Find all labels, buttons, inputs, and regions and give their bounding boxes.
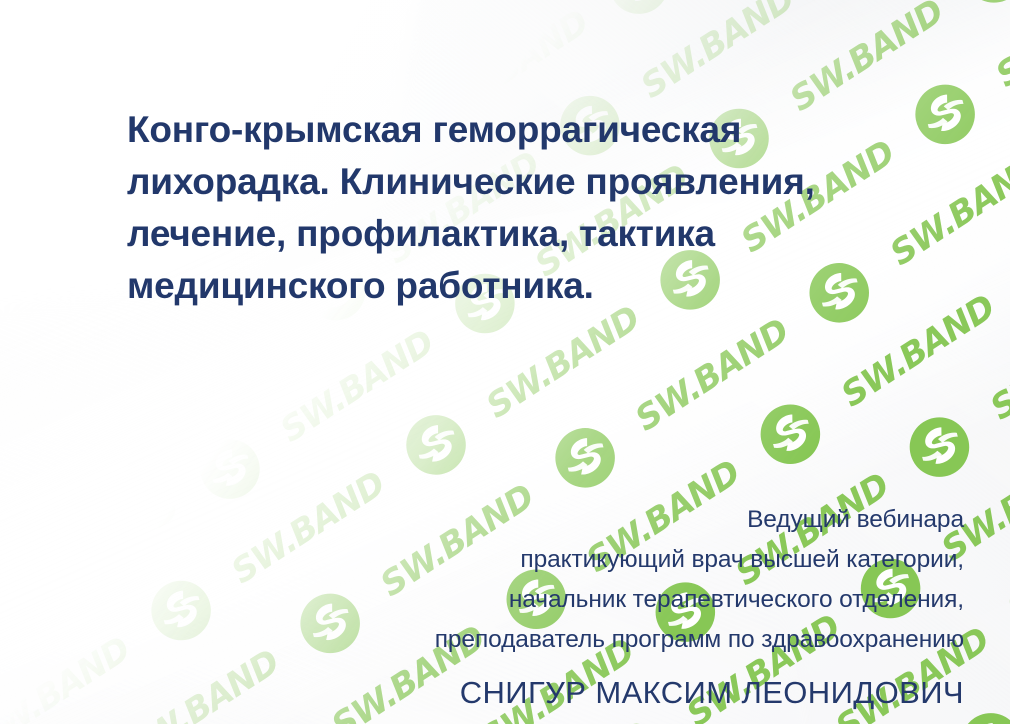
sw-band-circle-logo-icon xyxy=(596,0,682,27)
sw-band-circle-logo-icon xyxy=(38,413,124,499)
watermark-text: SW.BAND xyxy=(273,322,441,450)
sw-band-circle-logo-icon xyxy=(997,558,1010,644)
sw-band-circle-logo-icon xyxy=(542,415,628,501)
title-line: медицинского работника. xyxy=(127,260,887,312)
presenter-role-line: преподаватель программ по здравоохранени… xyxy=(204,620,964,660)
sw-band-circle-logo-icon xyxy=(241,0,327,38)
watermark-text: SW.BAND xyxy=(0,475,37,603)
sw-band-circle-logo-icon xyxy=(447,0,533,14)
sw-band-circle-logo-icon xyxy=(1003,226,1010,312)
watermark-text: SW.BAND xyxy=(628,311,796,439)
watermark-text: SW.BAND xyxy=(783,0,951,120)
sw-band-circle-logo-icon xyxy=(0,259,23,345)
sw-band-circle-logo-icon xyxy=(902,71,988,157)
watermark-text: SW.BAND xyxy=(0,629,137,724)
sw-band-circle-logo-icon xyxy=(92,0,178,25)
watermark-text: SW.BAND xyxy=(0,334,86,462)
sw-band-circle-logo-icon xyxy=(951,0,1010,16)
presenter-credentials: Ведущий вебинара практикующий врач высше… xyxy=(204,500,964,717)
title-line: лихорадка. Клинические проявления, xyxy=(127,156,887,208)
watermark-text: SW.BAND xyxy=(634,0,802,107)
title-line: лечение, профилактика, тактика xyxy=(127,208,887,260)
watermark-text: SW.BAND xyxy=(989,0,1010,96)
presenter-role-line: Ведущий вебинара xyxy=(204,500,964,540)
title-line: Конго-крымская геморрагическая xyxy=(127,104,887,156)
presenter-role-line: практикующий врач высшей категории, xyxy=(204,540,964,580)
watermark-text: SW.BAND xyxy=(883,146,1010,274)
watermark-text: SW.BAND xyxy=(18,488,186,616)
watermark-text: SW.BAND xyxy=(479,298,647,426)
watermark-text: SW.BAND xyxy=(983,300,1010,428)
presenter-name: СНИГУР МАКСИМ ЛЕОНИДОВИЧ xyxy=(204,669,964,717)
slide-title: Конго-крымская геморрагическая лихорадка… xyxy=(127,104,887,312)
watermark-text: SW.BAND xyxy=(279,0,447,118)
sw-band-circle-logo-icon xyxy=(802,0,888,3)
sw-band-circle-logo-icon xyxy=(393,402,479,488)
sw-band-circle-logo-icon xyxy=(0,592,18,678)
watermark-text: SW.BAND xyxy=(124,309,292,437)
sw-band-circle-logo-icon xyxy=(0,118,72,204)
sw-band-circle-logo-icon xyxy=(748,391,834,477)
presenter-role-line: начальник терапевтического отделения, xyxy=(204,580,964,620)
sw-band-circle-logo-icon xyxy=(897,404,983,490)
watermark-text: SW.BAND xyxy=(0,1,91,129)
presentation-slide: SW.BANDSW.BANDSW.BANDSW.BANDSW.BANDSW.BA… xyxy=(0,0,1010,724)
